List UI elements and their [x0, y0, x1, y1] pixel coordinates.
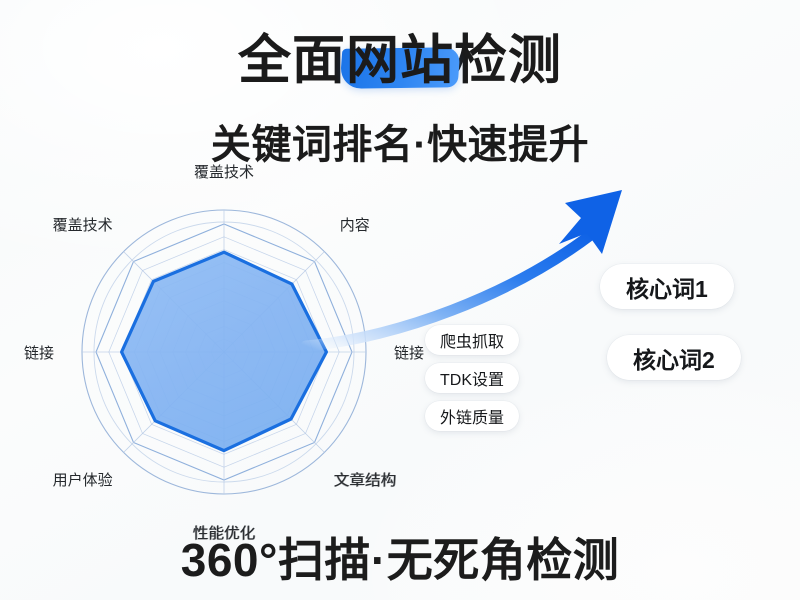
title-part-highlight: 网站 — [346, 31, 454, 90]
tag-pill-crawler[interactable]: 爬虫抓取 — [425, 325, 519, 355]
tag-pill-tdk[interactable]: TDK设置 — [425, 363, 519, 393]
radar-axis-label-6: 链接 — [24, 342, 54, 363]
radar-series-polygon — [122, 252, 327, 450]
radar-axis-label-3: 文章结构 — [334, 469, 396, 490]
radar-axis-label-5: 用户体验 — [53, 469, 113, 490]
page-title: 全面网站检测 — [0, 34, 800, 87]
title-part-before: 全面 — [238, 31, 346, 90]
radar-chart-svg — [38, 186, 438, 516]
radar-axis-label-0: 覆盖技术 — [194, 161, 254, 182]
title-part-after: 检测 — [454, 31, 562, 90]
keyword-pill-1[interactable]: 核心词1 — [600, 264, 734, 309]
tag-pill-backlink[interactable]: 外链质量 — [425, 401, 519, 431]
page-subtitle: 关键词排名·快速提升 — [0, 112, 800, 170]
title-highlight-group: 网站 — [346, 34, 454, 87]
radar-axis-label-2: 链接 — [394, 342, 424, 363]
radar-chart: 覆盖技术内容链接文章结构性能优化用户体验链接覆盖技术 — [38, 186, 438, 516]
radar-axis-label-1: 内容 — [340, 214, 370, 235]
keyword-pill-2[interactable]: 核心词2 — [607, 335, 741, 380]
radar-axis-label-7: 覆盖技术 — [53, 214, 113, 235]
page-footer-line: 360°扫描·无死角检测 — [0, 524, 800, 590]
